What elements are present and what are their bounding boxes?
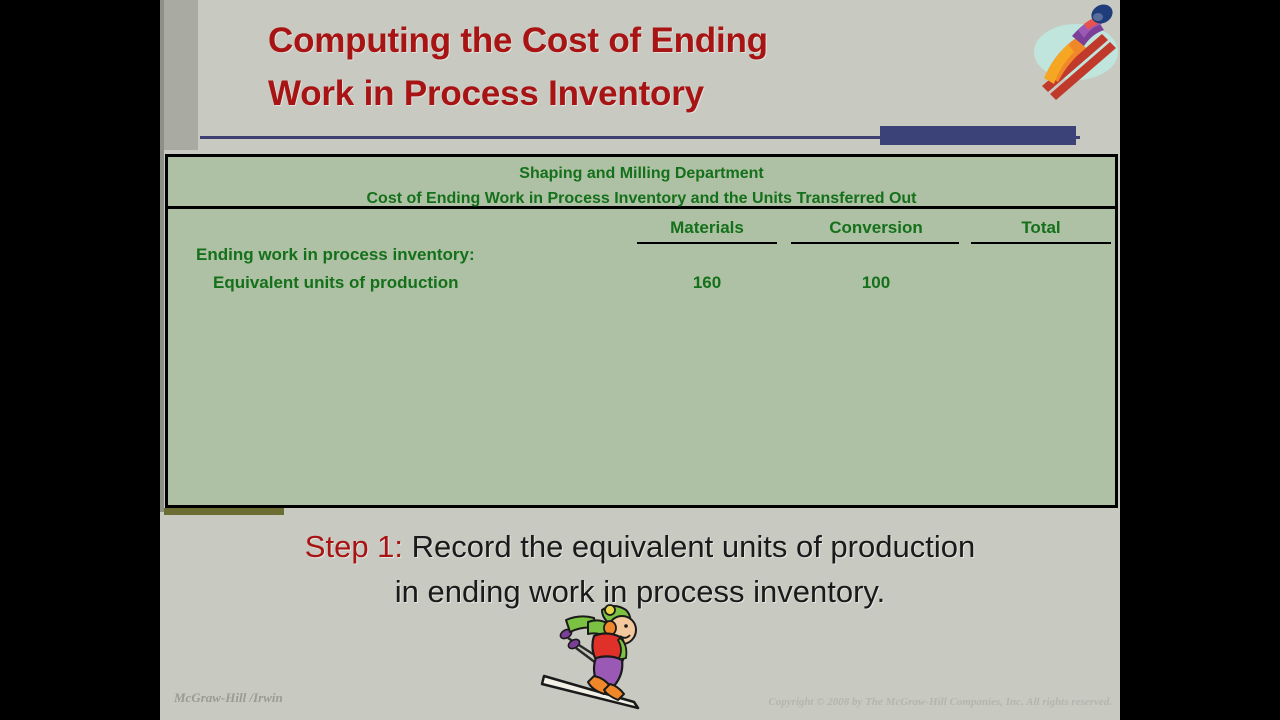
- left-edge-stripe: [160, 0, 164, 512]
- footer-copyright: Copyright © 2008 by The McGraw-Hill Comp…: [768, 696, 1112, 708]
- table-cell-eup-materials: 160: [637, 273, 777, 293]
- slide-frame: Computing the Cost of Ending Work in Pro…: [0, 0, 1280, 720]
- step-line-1: Step 1: Record the equivalent units of p…: [160, 524, 1120, 569]
- table-heading: Shaping and Milling Department Cost of E…: [168, 157, 1115, 209]
- cartoon-skier-clipart-icon: [538, 604, 650, 712]
- column-rule-materials: [637, 242, 777, 244]
- column-header-total: Total: [971, 218, 1111, 238]
- column-header-conversion: Conversion: [791, 218, 961, 238]
- step-callout: Step 1: Record the equivalent units of p…: [160, 524, 1120, 614]
- table-body: Materials Conversion Total Ending work i…: [168, 209, 1115, 505]
- table-row-label-equivalent-units: Equivalent units of production: [213, 273, 459, 293]
- column-header-materials: Materials: [637, 218, 777, 238]
- presentation-slide: Computing the Cost of Ending Work in Pro…: [160, 0, 1120, 720]
- column-rule-conversion: [791, 242, 959, 244]
- table-heading-line-1: Shaping and Milling Department: [168, 161, 1115, 186]
- step-text-line-1: Record the equivalent units of productio…: [412, 529, 976, 564]
- downhill-skier-logo-icon: [1028, 0, 1120, 108]
- title-line-1: Computing the Cost of Ending: [268, 14, 1028, 67]
- table-row-label-ending-wip: Ending work in process inventory:: [196, 245, 475, 265]
- page-title: Computing the Cost of Ending Work in Pro…: [268, 14, 1028, 120]
- title-line-2: Work in Process Inventory: [268, 67, 1028, 120]
- navy-accent-block: [880, 126, 1076, 145]
- footer-publisher: McGraw-Hill /Irwin: [174, 690, 283, 706]
- left-gray-band: [162, 0, 198, 150]
- column-rule-total: [971, 242, 1111, 244]
- table-heading-line-2: Cost of Ending Work in Process Inventory…: [168, 186, 1115, 211]
- table-cell-eup-conversion: 100: [791, 273, 961, 293]
- olive-accent-stub: [164, 508, 284, 515]
- step-label: Step 1:: [305, 529, 403, 564]
- cost-reconciliation-table: Shaping and Milling Department Cost of E…: [165, 154, 1118, 508]
